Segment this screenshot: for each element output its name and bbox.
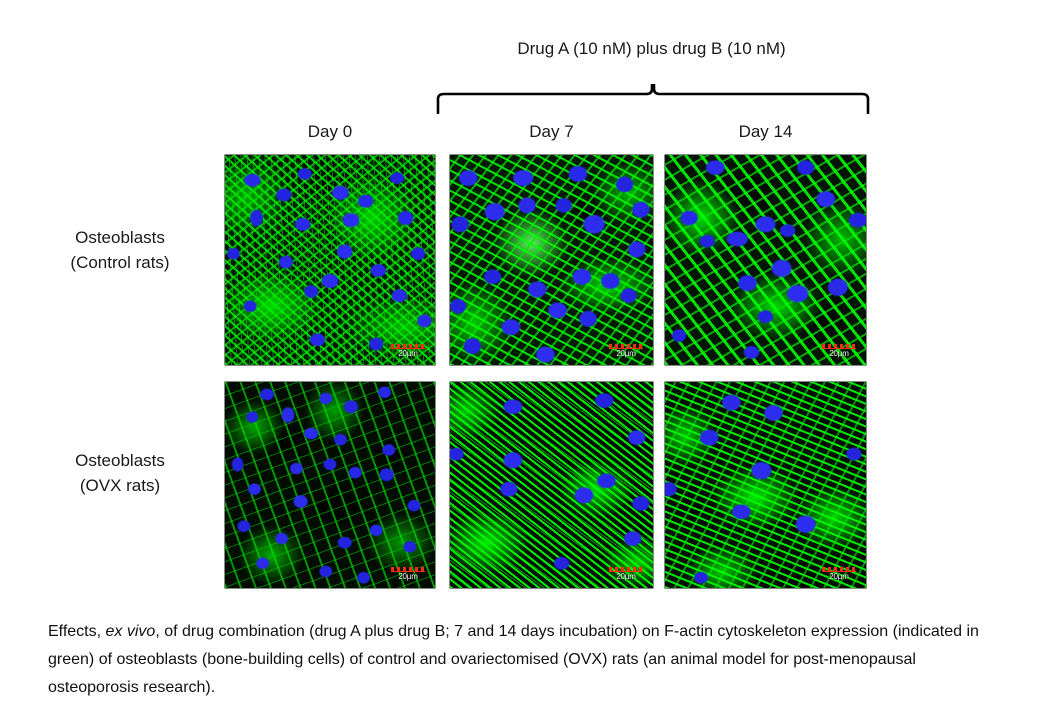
column-header-day-0: Day 0 bbox=[225, 120, 435, 144]
column-header-day-7: Day 7 bbox=[450, 120, 653, 144]
scale-bar: 20µm bbox=[385, 567, 431, 585]
micrograph-nuclei-layer bbox=[225, 382, 435, 588]
row-label-control-line1: Osteoblasts bbox=[20, 225, 220, 250]
micrograph-ovx-day7: 20µm bbox=[450, 382, 653, 588]
caption-part1: Effects, bbox=[48, 623, 106, 640]
scale-bar: 20µm bbox=[816, 344, 862, 362]
row-label-control: Osteoblasts (Control rats) bbox=[20, 225, 220, 275]
row-label-ovx-line2: (OVX rats) bbox=[20, 473, 220, 498]
caption-part2: , of drug combination (drug A plus drug … bbox=[48, 623, 979, 696]
scale-bar-label: 20µm bbox=[385, 572, 431, 581]
scale-bar: 20µm bbox=[603, 344, 649, 362]
column-header-day-14: Day 14 bbox=[665, 120, 866, 144]
scale-bar: 20µm bbox=[385, 344, 431, 362]
row-label-ovx-line1: Osteoblasts bbox=[20, 448, 220, 473]
scale-bar-label: 20µm bbox=[603, 572, 649, 581]
scale-bar-label: 20µm bbox=[816, 349, 862, 358]
scale-bar-label: 20µm bbox=[816, 572, 862, 581]
micrograph-control-day7: 20µm bbox=[450, 155, 653, 365]
micrograph-nuclei-layer bbox=[225, 155, 435, 365]
micrograph-ovx-day0: 20µm bbox=[225, 382, 435, 588]
caption-italic-ex-vivo: ex vivo bbox=[106, 623, 156, 640]
micrograph-control-day14: 20µm bbox=[665, 155, 866, 365]
scale-bar-label: 20µm bbox=[603, 349, 649, 358]
scale-bar-label: 20µm bbox=[385, 349, 431, 358]
scale-bar: 20µm bbox=[603, 567, 649, 585]
micrograph-control-day0: 20µm bbox=[225, 155, 435, 365]
row-label-ovx: Osteoblasts (OVX rats) bbox=[20, 448, 220, 498]
row-label-control-line2: (Control rats) bbox=[20, 250, 220, 275]
micrograph-ovx-day14: 20µm bbox=[665, 382, 866, 588]
micrograph-nuclei-layer bbox=[450, 382, 653, 588]
figure-caption: Effects, ex vivo, of drug combination (d… bbox=[48, 618, 996, 702]
curly-brace-icon bbox=[430, 84, 874, 114]
scale-bar: 20µm bbox=[816, 567, 862, 585]
group-title: Drug A (10 nM) plus drug B (10 nM) bbox=[437, 38, 866, 60]
micrograph-nuclei-layer bbox=[665, 155, 866, 365]
micrograph-nuclei-layer bbox=[665, 382, 866, 588]
figure-root: Drug A (10 nM) plus drug B (10 nM) Day 0… bbox=[0, 0, 1040, 720]
micrograph-nuclei-layer bbox=[450, 155, 653, 365]
